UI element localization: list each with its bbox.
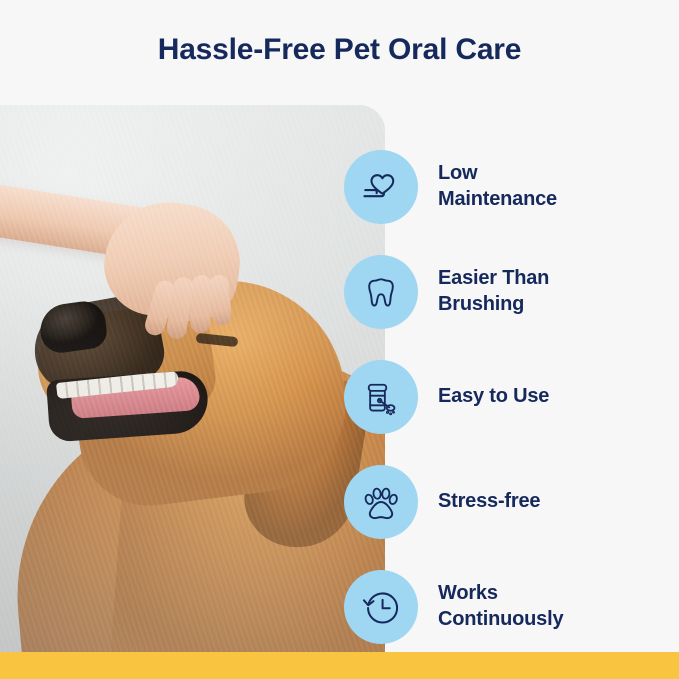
feature-works-continuously: Works Continuously xyxy=(344,554,679,659)
feature-icon-badge xyxy=(344,465,418,539)
photo-vignette xyxy=(0,105,385,652)
feature-label: Stress-free xyxy=(438,489,540,515)
feature-easier-than-brushing: Easier Than Brushing xyxy=(344,239,679,344)
jar-with-scoop-icon xyxy=(360,376,402,418)
footer-accent-bar xyxy=(0,652,679,679)
tooth-icon xyxy=(360,271,402,313)
feature-icon-badge xyxy=(344,570,418,644)
feature-easy-to-use: Easy to Use xyxy=(344,344,679,449)
paw-print-icon xyxy=(360,481,402,523)
product-photo xyxy=(0,105,385,652)
feature-label: Easy to Use xyxy=(438,384,549,410)
feature-icon-badge xyxy=(344,360,418,434)
feature-label: Works Continuously xyxy=(438,581,563,632)
feature-label: Easier Than Brushing xyxy=(438,266,549,317)
page-title: Hassle-Free Pet Oral Care xyxy=(0,33,679,67)
feature-list: Low Maintenance Easier Than Brushing xyxy=(344,134,679,659)
feature-icon-badge xyxy=(344,255,418,329)
feature-icon-badge xyxy=(344,150,418,224)
infographic-root: Hassle-Free Pet Oral Care xyxy=(0,0,679,679)
heart-with-swoosh-icon xyxy=(360,166,402,208)
feature-stress-free: Stress-free xyxy=(344,449,679,554)
feature-low-maintenance: Low Maintenance xyxy=(344,134,679,239)
feature-label: Low Maintenance xyxy=(438,161,557,212)
clock-with-arrow-icon xyxy=(360,586,402,628)
